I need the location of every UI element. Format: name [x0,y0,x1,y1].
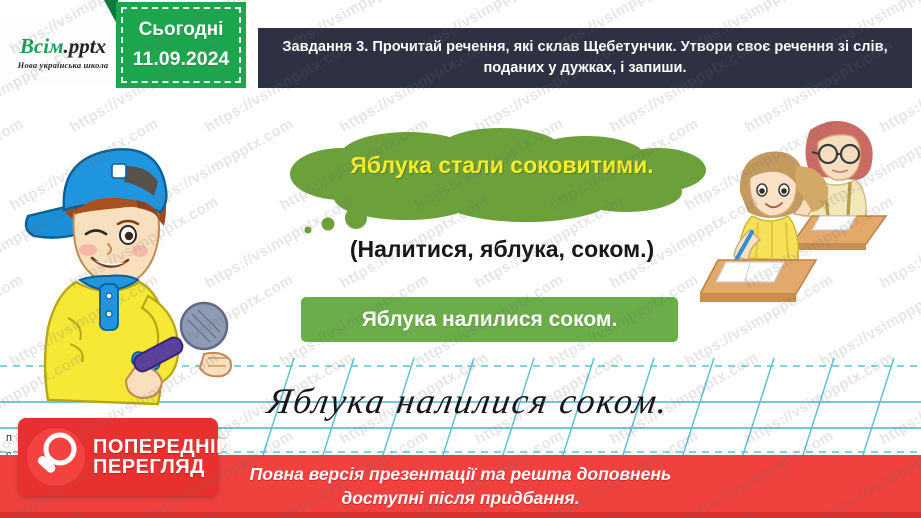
banner-bottom-strip [0,512,921,518]
magnifier-icon [27,428,85,486]
answer-sentence-box: Яблука налилися соком. [301,297,678,342]
brand-name-prefix: Всім [20,34,64,58]
today-date-badge: Сьогодні 11.09.2024 [116,2,246,88]
today-label: Сьогодні [139,16,224,45]
word-bank-line: (Налитися, яблука, соком.) [286,236,718,263]
brand-logo[interactable]: Всім.pptx Нова українська школа [0,22,126,84]
thought-bubble-cloud [286,126,718,246]
preview-badge-labels: ПОПЕРЕДНІЙ ПЕРЕГЛЯД [93,437,231,477]
purchase-notice-line-1: Повна версія презентації та решта доповн… [250,463,672,487]
children-writing-illustration [700,112,915,307]
task-title-text: Завдання 3. Прочитай речення, які склав … [266,37,904,79]
answer-sentence-text: Яблука налилися соком. [362,308,618,332]
today-date: 11.09.2024 [133,45,230,74]
preview-label-line-1: ПОПЕРЕДНІЙ [93,437,231,457]
obscured-line-1: п [6,430,12,447]
brand-name-suffix: .pptx [63,34,106,58]
preview-label-line-2: ПЕРЕГЛЯД [93,457,231,477]
purchase-notice-line-2: доступні після придбання. [341,487,579,511]
brand-name: Всім.pptx [20,36,106,57]
handwritten-sentence: Яблука налилися соком. [265,380,673,422]
thought-bubble-sentence: Яблука стали соковитими. [286,152,718,179]
slide-canvas: Яблука налилися соком. п с [0,0,921,518]
preview-badge[interactable]: ПОПЕРЕДНІЙ ПЕРЕГЛЯД [18,418,218,496]
brand-tagline: Нова українська школа [18,60,109,70]
boy-with-microphone-illustration [8,118,258,418]
task-title-bar: Завдання 3. Прочитай речення, які склав … [258,28,912,88]
